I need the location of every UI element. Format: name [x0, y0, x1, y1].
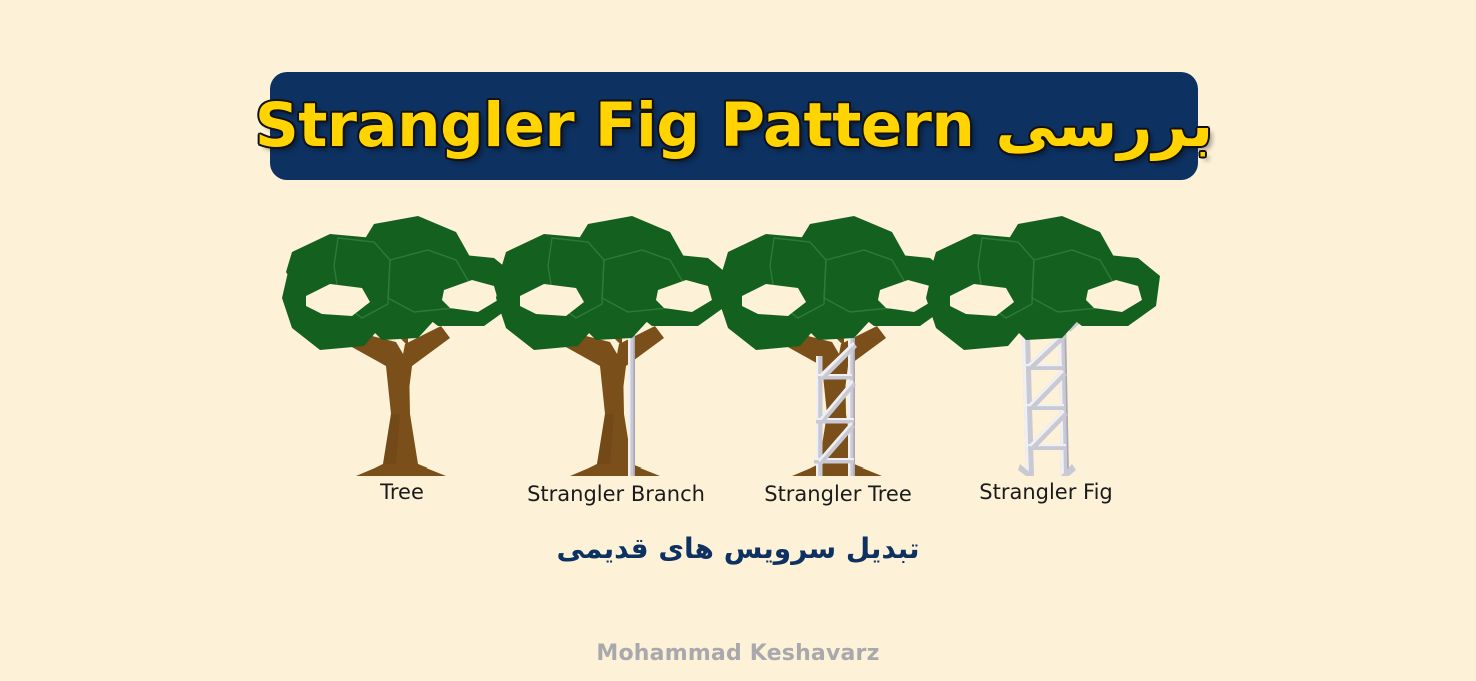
diagram-stage-strangler-branch: Strangler Branch — [492, 214, 740, 514]
canopy-group — [718, 216, 952, 350]
title-banner: بررسی Strangler Fig Pattern — [270, 72, 1198, 180]
tree-with-vine-icon — [492, 214, 740, 476]
strangler-fig-diagram: Tree — [0, 214, 1476, 514]
stage-label-tree: Tree — [278, 480, 526, 504]
canopy-group — [926, 216, 1160, 350]
slide-root: بررسی Strangler Fig Pattern — [0, 0, 1476, 681]
page-title: بررسی Strangler Fig Pattern — [255, 94, 1213, 158]
canopy-group — [496, 216, 730, 350]
diagram-stage-tree: Tree — [278, 214, 526, 514]
lattice-only-icon — [922, 214, 1170, 476]
stage-label-strangler-fig: Strangler Fig — [922, 480, 1170, 504]
diagram-stage-strangler-fig: Strangler Fig — [922, 214, 1170, 514]
tree-plain-icon — [278, 214, 526, 476]
subtitle: تبدیل سرویس های قدیمی — [0, 532, 1476, 565]
stage-label-strangler-branch: Strangler Branch — [492, 482, 740, 506]
strangler-vine-group — [628, 324, 635, 476]
canopy-group — [282, 216, 516, 350]
author-credit: Mohammad Keshavarz — [0, 641, 1476, 666]
